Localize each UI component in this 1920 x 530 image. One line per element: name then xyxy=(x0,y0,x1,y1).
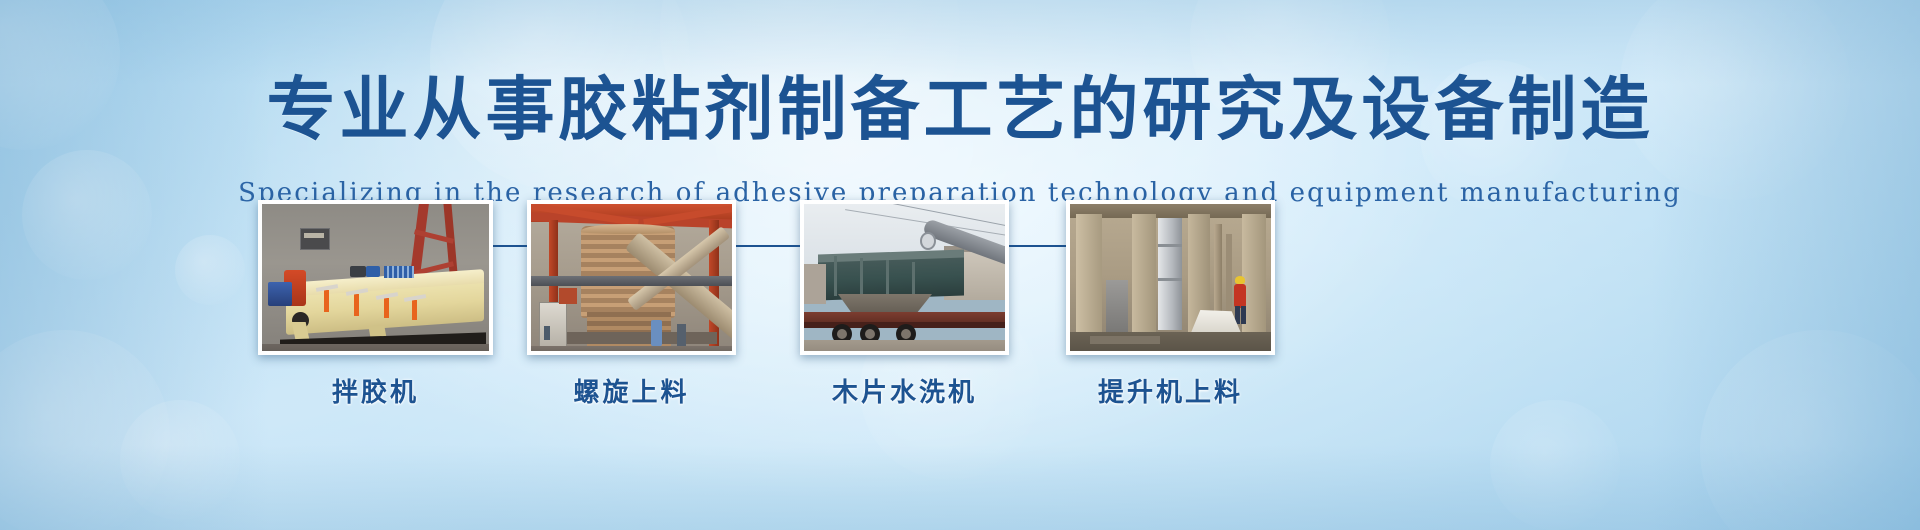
connector-line xyxy=(1000,245,1066,247)
gallery-item[interactable]: 螺旋上料 xyxy=(527,200,736,409)
gallery-item[interactable]: 拌胶机 xyxy=(258,200,493,409)
banner-headline: 专业从事胶粘剂制备工艺的研究及设备制造 xyxy=(0,53,1920,153)
photo-bucket-elevator[interactable] xyxy=(1066,200,1275,355)
gallery-item[interactable]: 提升机上料 xyxy=(1066,200,1275,409)
promo-banner: 专业从事胶粘剂制备工艺的研究及设备制造 Specializing in the … xyxy=(0,0,1920,530)
connector-line xyxy=(735,245,805,247)
gallery-item[interactable]: 木片水洗机 xyxy=(800,200,1009,409)
gallery-item-caption: 螺旋上料 xyxy=(527,372,736,409)
photo-glue-mixer[interactable] xyxy=(258,200,493,355)
photo-wood-chip-washer[interactable] xyxy=(800,200,1009,355)
photo-screw-feeder[interactable] xyxy=(527,200,736,355)
gallery-item-caption: 木片水洗机 xyxy=(800,372,1009,409)
process-gallery: 拌胶机 xyxy=(0,200,1920,490)
gallery-item-caption: 提升机上料 xyxy=(1066,372,1275,409)
gallery-item-caption: 拌胶机 xyxy=(258,372,493,409)
